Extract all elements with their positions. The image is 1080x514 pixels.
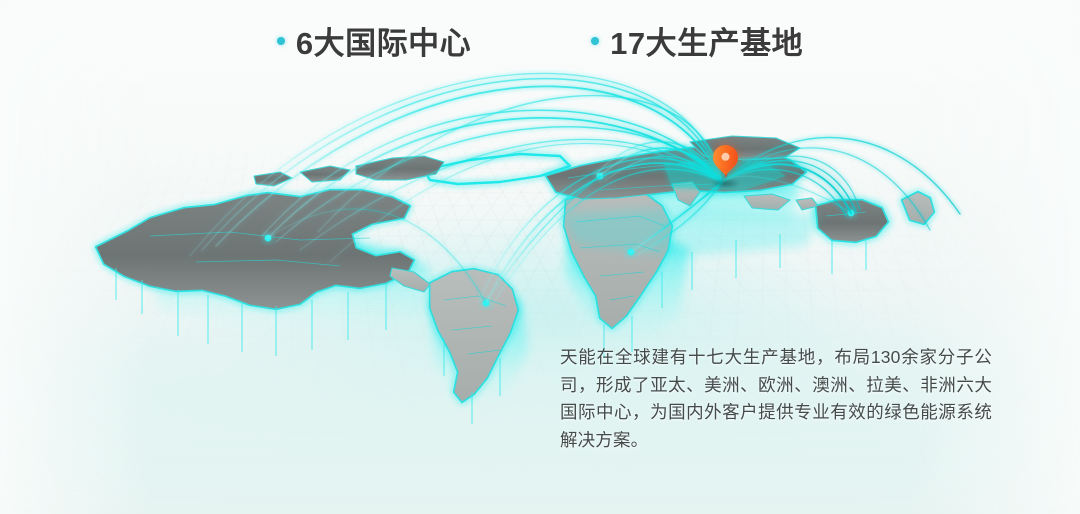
headline-label-2: 17大生产基地	[610, 18, 803, 63]
description-paragraph: 天能在全球建有十七大生产基地，布局130余家分子公司，形成了亚太、美洲、欧洲、澳…	[560, 344, 992, 454]
location-pin-icon[interactable]	[709, 145, 741, 193]
bullet-dot-icon	[591, 37, 599, 45]
bullet-dot-icon	[277, 37, 285, 45]
pin-head	[708, 140, 743, 175]
headline-row: 6大国际中心 17大生产基地	[0, 18, 1080, 63]
headline-label-1: 6大国际中心	[296, 18, 471, 63]
headline-international-centers: 6大国际中心	[277, 18, 471, 63]
world-map-hero: 6大国际中心 17大生产基地 天能在全球建有十七大生产基地，布局130余家分子公…	[0, 0, 1080, 514]
pin-shadow	[706, 177, 744, 190]
headline-production-bases: 17大生产基地	[591, 18, 803, 63]
